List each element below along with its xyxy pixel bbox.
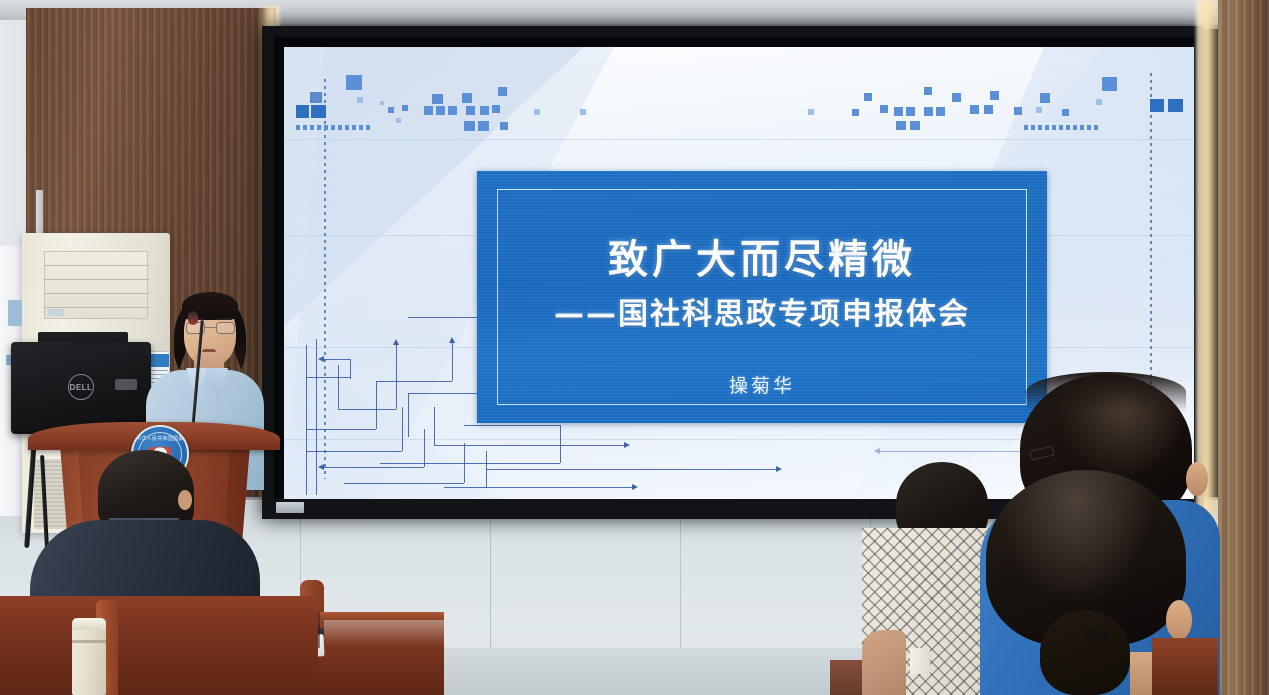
chair-right <box>1152 638 1218 695</box>
microphone-head <box>188 311 198 325</box>
presentation-room-scene: 致广大而尽精微 ——国社科思政专项申报体会 操菊华 A DELL <box>0 0 1269 695</box>
audience-right-blue-hair <box>1026 372 1186 412</box>
slide-subtitle: ——国社科思政专项申报体会 <box>477 289 1047 333</box>
thermos-band <box>72 640 106 643</box>
slide-title-panel: 致广大而尽精微 ——国社科思政专项申报体会 操菊华 <box>477 171 1047 423</box>
thermos-cap <box>72 618 106 630</box>
wood-panel-right <box>1218 0 1269 695</box>
paper-cup <box>910 648 930 674</box>
seal-text: 中华人民共和国国徽 <box>133 435 187 442</box>
display-brand-badge <box>276 502 304 513</box>
dell-monitor: DELL <box>11 342 151 434</box>
wall-sticker-1 <box>8 300 22 326</box>
hair-tie <box>1086 630 1108 641</box>
dotted-guide-left <box>324 79 326 479</box>
audience-foreground-ear <box>1166 600 1192 640</box>
ac-badge <box>48 309 64 316</box>
audience-right-checkered-arm <box>862 630 906 695</box>
audience-foreground-ponytail <box>1040 610 1130 695</box>
thermos-bottle <box>72 622 106 695</box>
dell-logo-icon: DELL <box>68 374 94 400</box>
audience-front-left-ear <box>178 490 192 510</box>
monitor-label <box>115 379 137 390</box>
desk-1 <box>0 596 318 695</box>
slide-title: 致广大而尽精微 <box>477 227 1047 285</box>
audience-right-blue-ear <box>1186 462 1208 496</box>
slide-author: 操菊华 <box>477 371 1047 398</box>
